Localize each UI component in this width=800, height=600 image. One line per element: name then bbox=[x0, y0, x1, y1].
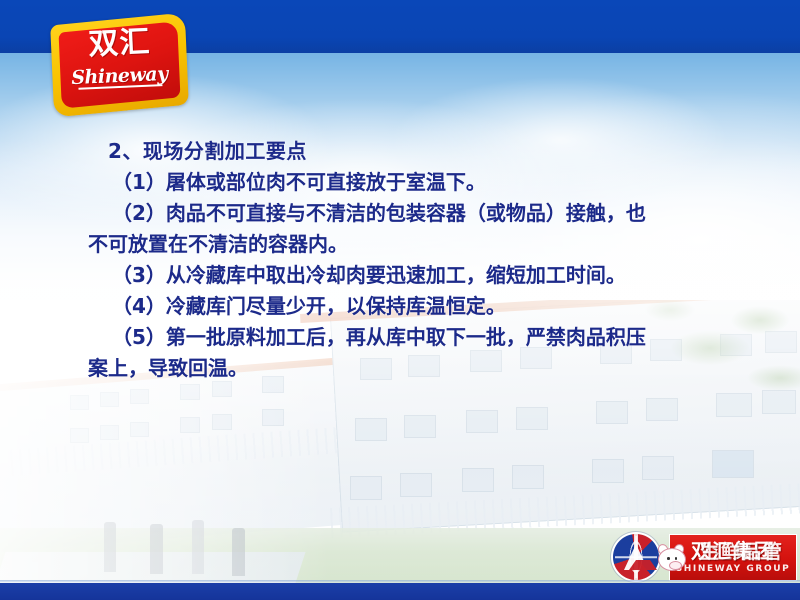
slide-body-text: 2、现场分割加工要点 （1）屠体或部位肉不可直接放于室温下。 （2）肉品不可直接… bbox=[0, 136, 800, 384]
slide-canvas: 双汇 Shineway 2、现场分割加工要点 （1）屠体或部位肉不可直接放于室温… bbox=[0, 0, 800, 600]
logo-english: SHINEWAY GROUP bbox=[671, 564, 795, 574]
section-heading: 2、现场分割加工要点 bbox=[0, 136, 800, 167]
pig-mascot-icon bbox=[656, 545, 686, 571]
shineway-group-logo: 双汇集团 生鲜品管 SHINEWAY GROUP bbox=[611, 533, 796, 581]
list-item-5-line1: （5）第一批原料加工后，再从库中取下一批，严禁肉品积压 bbox=[0, 322, 800, 353]
bottom-blue-band bbox=[0, 583, 800, 600]
globe-arrow-mark bbox=[624, 544, 648, 570]
pig-eye-left bbox=[667, 557, 670, 560]
list-item-3-line1: （3）从冷藏库中取出冷却肉要迅速加工，缩短加工时间。 bbox=[0, 260, 800, 291]
globe-icon bbox=[613, 534, 659, 580]
list-item-2-line2: 不可放置在不清洁的容器内。 bbox=[0, 229, 800, 260]
logo-chinese-overlay: 生鲜品管 bbox=[689, 539, 795, 565]
list-item-5-line2: 案上，导致回温。 bbox=[0, 353, 800, 384]
shineway-flag-logo: 双汇 Shineway bbox=[52, 19, 187, 111]
list-item-1-line1: （1）屠体或部位肉不可直接放于室温下。 bbox=[0, 167, 800, 198]
pig-eye-right bbox=[675, 557, 678, 560]
pig-head bbox=[658, 548, 686, 571]
list-item-4-line1: （4）冷藏库门尽量少开，以保持库温恒定。 bbox=[0, 291, 800, 322]
pig-snout bbox=[669, 561, 682, 570]
globe-meridians bbox=[613, 534, 659, 580]
flag-logo-chinese: 双汇 bbox=[51, 26, 187, 62]
list-item-2-line1: （2）肉品不可直接与不清洁的包装容器（或物品）接触，也 bbox=[0, 198, 800, 229]
